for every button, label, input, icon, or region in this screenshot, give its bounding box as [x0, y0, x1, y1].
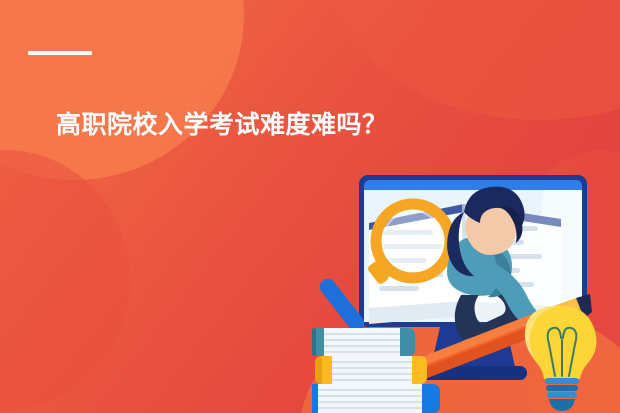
lightbulb-icon	[525, 306, 597, 411]
online-study-search-illustration	[312, 168, 608, 413]
stacked-books	[312, 328, 440, 413]
book-teal	[312, 328, 415, 356]
accent-rule	[28, 51, 92, 55]
book-blue	[312, 384, 440, 413]
book-yellow	[315, 356, 427, 384]
promo-banner: 高职院校入学考试难度难吗？	[0, 0, 620, 413]
page-title: 高职院校入学考试难度难吗？	[56, 108, 388, 142]
bulb-base	[545, 378, 579, 411]
